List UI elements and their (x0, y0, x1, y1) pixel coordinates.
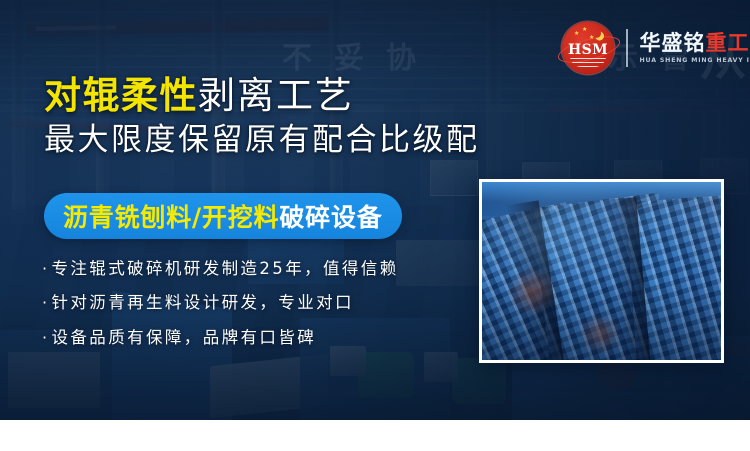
star-icon: ★ (574, 31, 579, 37)
wave-lines-icon (570, 56, 606, 67)
logo-divider (626, 29, 628, 67)
star-icon: ★ (589, 35, 594, 41)
promo-banner: 不 妥 协 示 冒 从 ★ ★ ★ HSM 华盛铭重工 HUA SHENG MI… (0, 0, 750, 420)
list-item: · 设备品质有保障，品牌有口皆碑 (42, 327, 482, 349)
bullet-dot-icon: · (42, 327, 50, 349)
list-item-label: 针对沥青再生料设计研发，专业对口 (52, 292, 354, 314)
list-item-label: 设备品质有保障，品牌有口皆碑 (52, 327, 317, 349)
company-name-cn-part1: 华盛铭 (640, 30, 706, 55)
headline-line-2: 最大限度保留原有配合比级配 (44, 123, 514, 157)
product-photo (482, 182, 721, 360)
company-logo[interactable]: ★ ★ ★ HSM 华盛铭重工 HUA SHENG MING HEAVY IND… (562, 22, 750, 74)
background-watermark: 妥 (334, 44, 364, 74)
headline-block: 对辊柔性剥离工艺 最大限度保留原有配合比级配 (44, 76, 514, 157)
background-watermark: 不 (282, 44, 312, 74)
product-category-badge[interactable]: 沥青铣刨料/开挖料破碎设备 (44, 193, 402, 239)
badge-highlight-text: 沥青铣刨料/开挖料 (63, 198, 279, 234)
selling-points-list: · 专注辊式破碎机研发制造25年，值得信赖 · 针对沥青再生料设计研发，专业对口… (42, 258, 482, 361)
company-name-en: HUA SHENG MING HEAVY INDUSTRY (640, 57, 750, 64)
headline-rest: 剥离工艺 (198, 74, 354, 117)
list-item: · 针对沥青再生料设计研发，专业对口 (42, 292, 482, 314)
company-name-cn-part2: 重工 (706, 30, 750, 55)
headline-highlight: 对辊柔性 (44, 73, 198, 117)
background-watermark: 协 (386, 44, 416, 74)
hsm-emblem-icon: ★ ★ ★ HSM (562, 22, 614, 74)
star-icon: ★ (582, 27, 587, 33)
list-item-label: 专注辊式破碎机研发制造25年，值得信赖 (52, 258, 399, 280)
headline-line-1: 对辊柔性剥离工艺 (44, 76, 514, 115)
list-item: · 专注辊式破碎机研发制造25年，值得信赖 (42, 258, 482, 280)
company-name-cn: 华盛铭重工 (640, 32, 750, 55)
bullet-dot-icon: · (42, 258, 50, 280)
badge-rest-text: 破碎设备 (279, 198, 382, 234)
product-image-card[interactable] (479, 179, 724, 363)
photo-lighting (482, 182, 721, 360)
bullet-dot-icon: · (42, 292, 50, 314)
logo-wordmark: 华盛铭重工 HUA SHENG MING HEAVY INDUSTRY (640, 32, 750, 64)
